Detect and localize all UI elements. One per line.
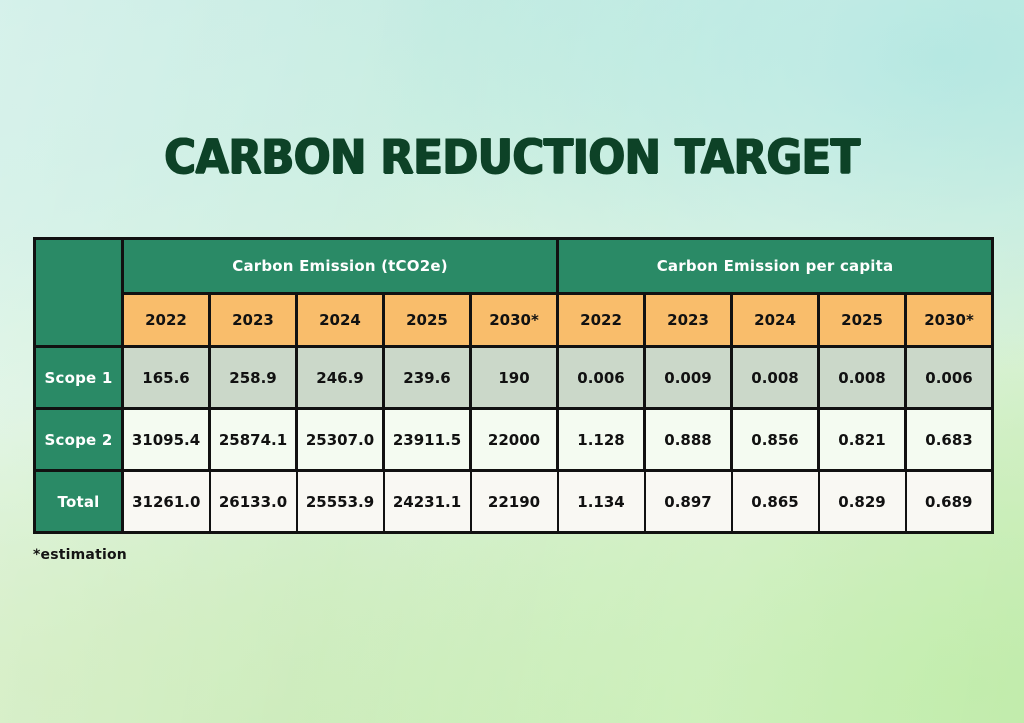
year-header-percapita-2030: 2030*: [906, 294, 993, 347]
table-group-header-row: Carbon Emission (tCO2e) Carbon Emission …: [35, 239, 993, 294]
estimation-footnote: *estimation: [33, 547, 127, 563]
cell-scope1-percapita-2024: 0.008: [732, 347, 819, 409]
cell-scope1-emission-2025: 239.6: [384, 347, 471, 409]
table-row-scope-1: Scope 1 165.6 258.9 246.9 239.6 190 0.00…: [35, 347, 993, 409]
cell-scope1-emission-2022: 165.6: [123, 347, 210, 409]
cell-scope1-percapita-2023: 0.009: [645, 347, 732, 409]
row-label-scope-1: Scope 1: [35, 347, 123, 409]
row-label-scope-2: Scope 2: [35, 409, 123, 471]
carbon-reduction-table: Carbon Emission (tCO2e) Carbon Emission …: [33, 237, 994, 534]
cell-scope1-emission-2023: 258.9: [210, 347, 297, 409]
page-title-text: CARBON REDUCTION TARGET: [164, 130, 859, 186]
cell-scope1-emission-2024: 246.9: [297, 347, 384, 409]
cell-total-emission-2024: 25553.9: [297, 471, 384, 533]
carbon-reduction-table-container: Carbon Emission (tCO2e) Carbon Emission …: [33, 237, 991, 534]
year-header-percapita-2022: 2022: [558, 294, 645, 347]
year-header-percapita-2023: 2023: [645, 294, 732, 347]
year-header-emission-2022: 2022: [123, 294, 210, 347]
year-header-emission-2030: 2030*: [471, 294, 558, 347]
row-label-total: Total: [35, 471, 123, 533]
cell-scope2-percapita-2024: 0.856: [732, 409, 819, 471]
cell-total-percapita-2025: 0.829: [819, 471, 906, 533]
cell-scope2-emission-2025: 23911.5: [384, 409, 471, 471]
page-title: CARBON REDUCTION TARGET: [0, 130, 1024, 186]
cell-scope1-emission-2030: 190: [471, 347, 558, 409]
cell-scope1-percapita-2022: 0.006: [558, 347, 645, 409]
table-row-total: Total 31261.0 26133.0 25553.9 24231.1 22…: [35, 471, 993, 533]
table-body: Scope 1 165.6 258.9 246.9 239.6 190 0.00…: [35, 347, 993, 533]
cell-scope2-emission-2023: 25874.1: [210, 409, 297, 471]
group-header-carbon-emission-per-capita: Carbon Emission per capita: [558, 239, 993, 294]
cell-scope2-percapita-2030: 0.683: [906, 409, 993, 471]
year-header-percapita-2024: 2024: [732, 294, 819, 347]
cell-total-emission-2023: 26133.0: [210, 471, 297, 533]
table-row-scope-2: Scope 2 31095.4 25874.1 25307.0 23911.5 …: [35, 409, 993, 471]
slide-canvas: CARBON REDUCTION TARGET Carbon Emission …: [0, 0, 1024, 723]
table-header: Carbon Emission (tCO2e) Carbon Emission …: [35, 239, 993, 347]
cell-scope2-emission-2030: 22000: [471, 409, 558, 471]
cell-total-emission-2030: 22190: [471, 471, 558, 533]
cell-scope2-emission-2022: 31095.4: [123, 409, 210, 471]
cell-total-emission-2022: 31261.0: [123, 471, 210, 533]
cell-scope2-percapita-2022: 1.128: [558, 409, 645, 471]
group-header-carbon-emission: Carbon Emission (tCO2e): [123, 239, 558, 294]
year-header-emission-2023: 2023: [210, 294, 297, 347]
cell-total-percapita-2024: 0.865: [732, 471, 819, 533]
table-corner-cell: [35, 239, 123, 347]
year-header-emission-2025: 2025: [384, 294, 471, 347]
cell-scope2-percapita-2023: 0.888: [645, 409, 732, 471]
table-year-header-row: 2022 2023 2024 2025 2030* 2022 2023 2024…: [35, 294, 993, 347]
year-header-percapita-2025: 2025: [819, 294, 906, 347]
cell-scope1-percapita-2025: 0.008: [819, 347, 906, 409]
cell-scope2-percapita-2025: 0.821: [819, 409, 906, 471]
cell-total-percapita-2030: 0.689: [906, 471, 993, 533]
year-header-emission-2024: 2024: [297, 294, 384, 347]
cell-total-percapita-2022: 1.134: [558, 471, 645, 533]
cell-total-emission-2025: 24231.1: [384, 471, 471, 533]
cell-total-percapita-2023: 0.897: [645, 471, 732, 533]
cell-scope2-emission-2024: 25307.0: [297, 409, 384, 471]
cell-scope1-percapita-2030: 0.006: [906, 347, 993, 409]
